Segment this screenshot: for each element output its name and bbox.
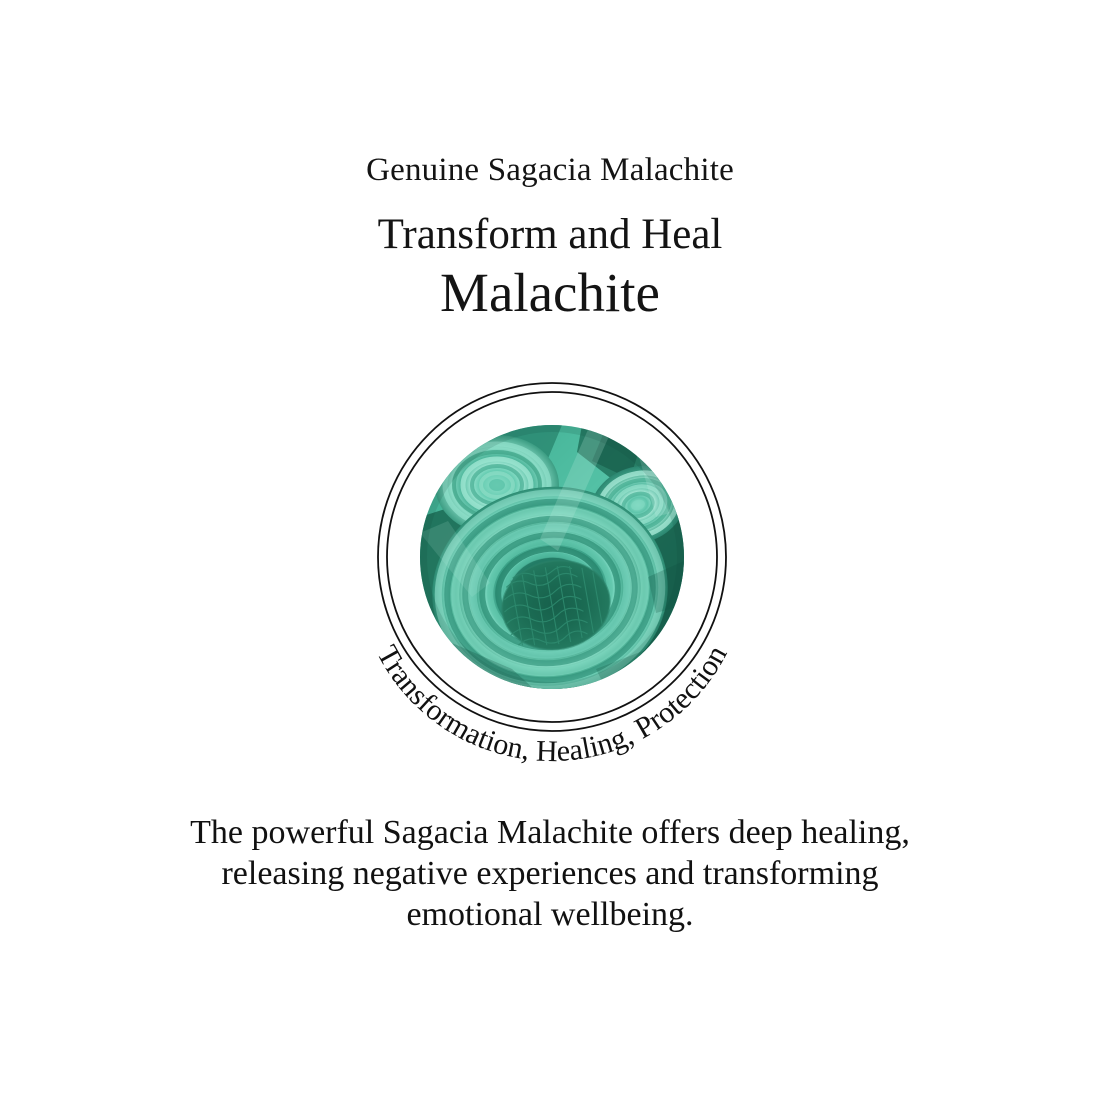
- eyebrow-text: Genuine Sagacia Malachite: [0, 150, 1100, 190]
- description-text: The powerful Sagacia Malachite offers de…: [70, 812, 1030, 935]
- product-card: Genuine Sagacia Malachite Transform and …: [0, 0, 1100, 1100]
- page-title: Malachite: [0, 262, 1100, 324]
- description-line-2: releasing negative experiences and trans…: [70, 853, 1030, 894]
- description-line-1: The powerful Sagacia Malachite offers de…: [70, 812, 1030, 853]
- heading-block: Genuine Sagacia Malachite Transform and …: [0, 150, 1100, 324]
- tagline-text: Transform and Heal: [0, 206, 1100, 264]
- description-line-3: emotional wellbeing.: [70, 894, 1030, 935]
- malachite-stone-image: [419, 425, 696, 710]
- badge-graphic: Transformation, Healing, Protection: [322, 327, 782, 787]
